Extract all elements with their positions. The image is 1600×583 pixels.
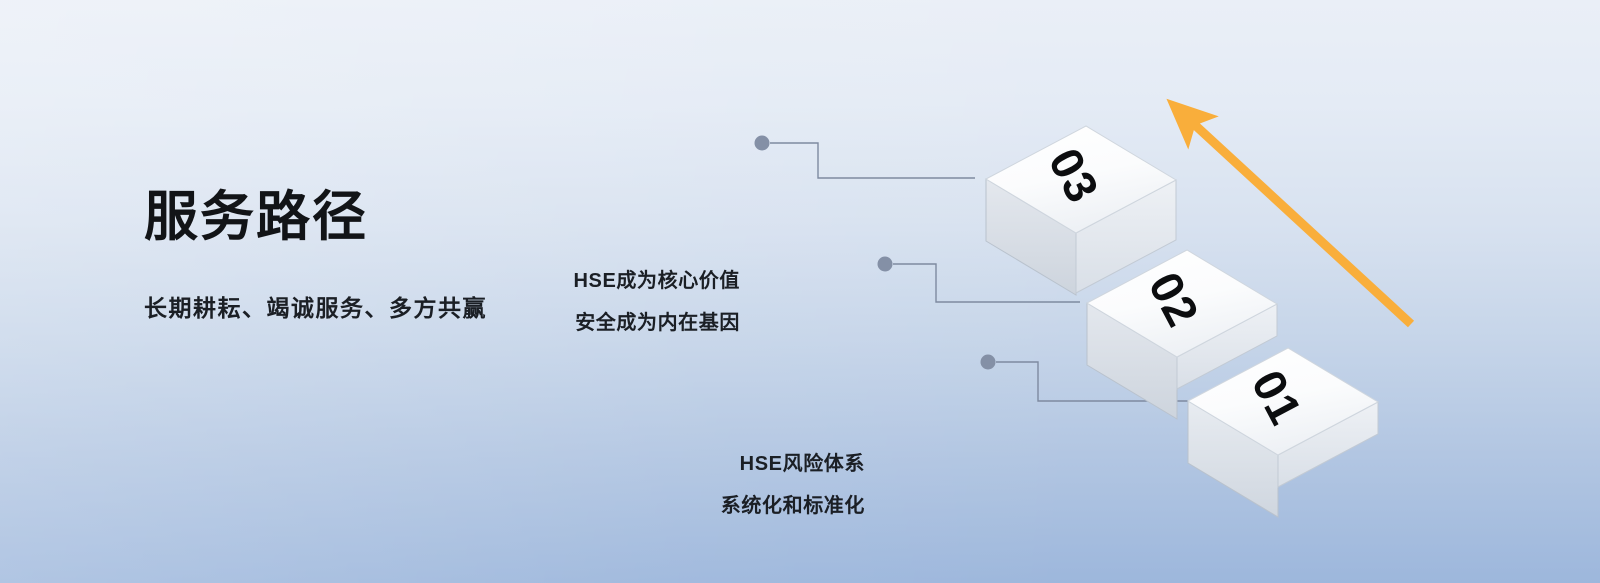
connector-dots: [755, 136, 996, 370]
step-block-03[interactable]: 03: [986, 126, 1176, 295]
connector-dot-02[interactable]: [878, 257, 893, 272]
connector-dot-01[interactable]: [981, 355, 996, 370]
connector-dot-03[interactable]: [755, 136, 770, 151]
connector-line-03: [770, 143, 975, 178]
slide-canvas: 服务路径 长期耕耘、竭诚服务、多方共赢 HSE成为核心价值 安全成为内在基因 H…: [0, 0, 1600, 583]
step-block-01[interactable]: 01: [1188, 348, 1378, 517]
staircase-diagram: 01 02 03: [0, 0, 1600, 583]
